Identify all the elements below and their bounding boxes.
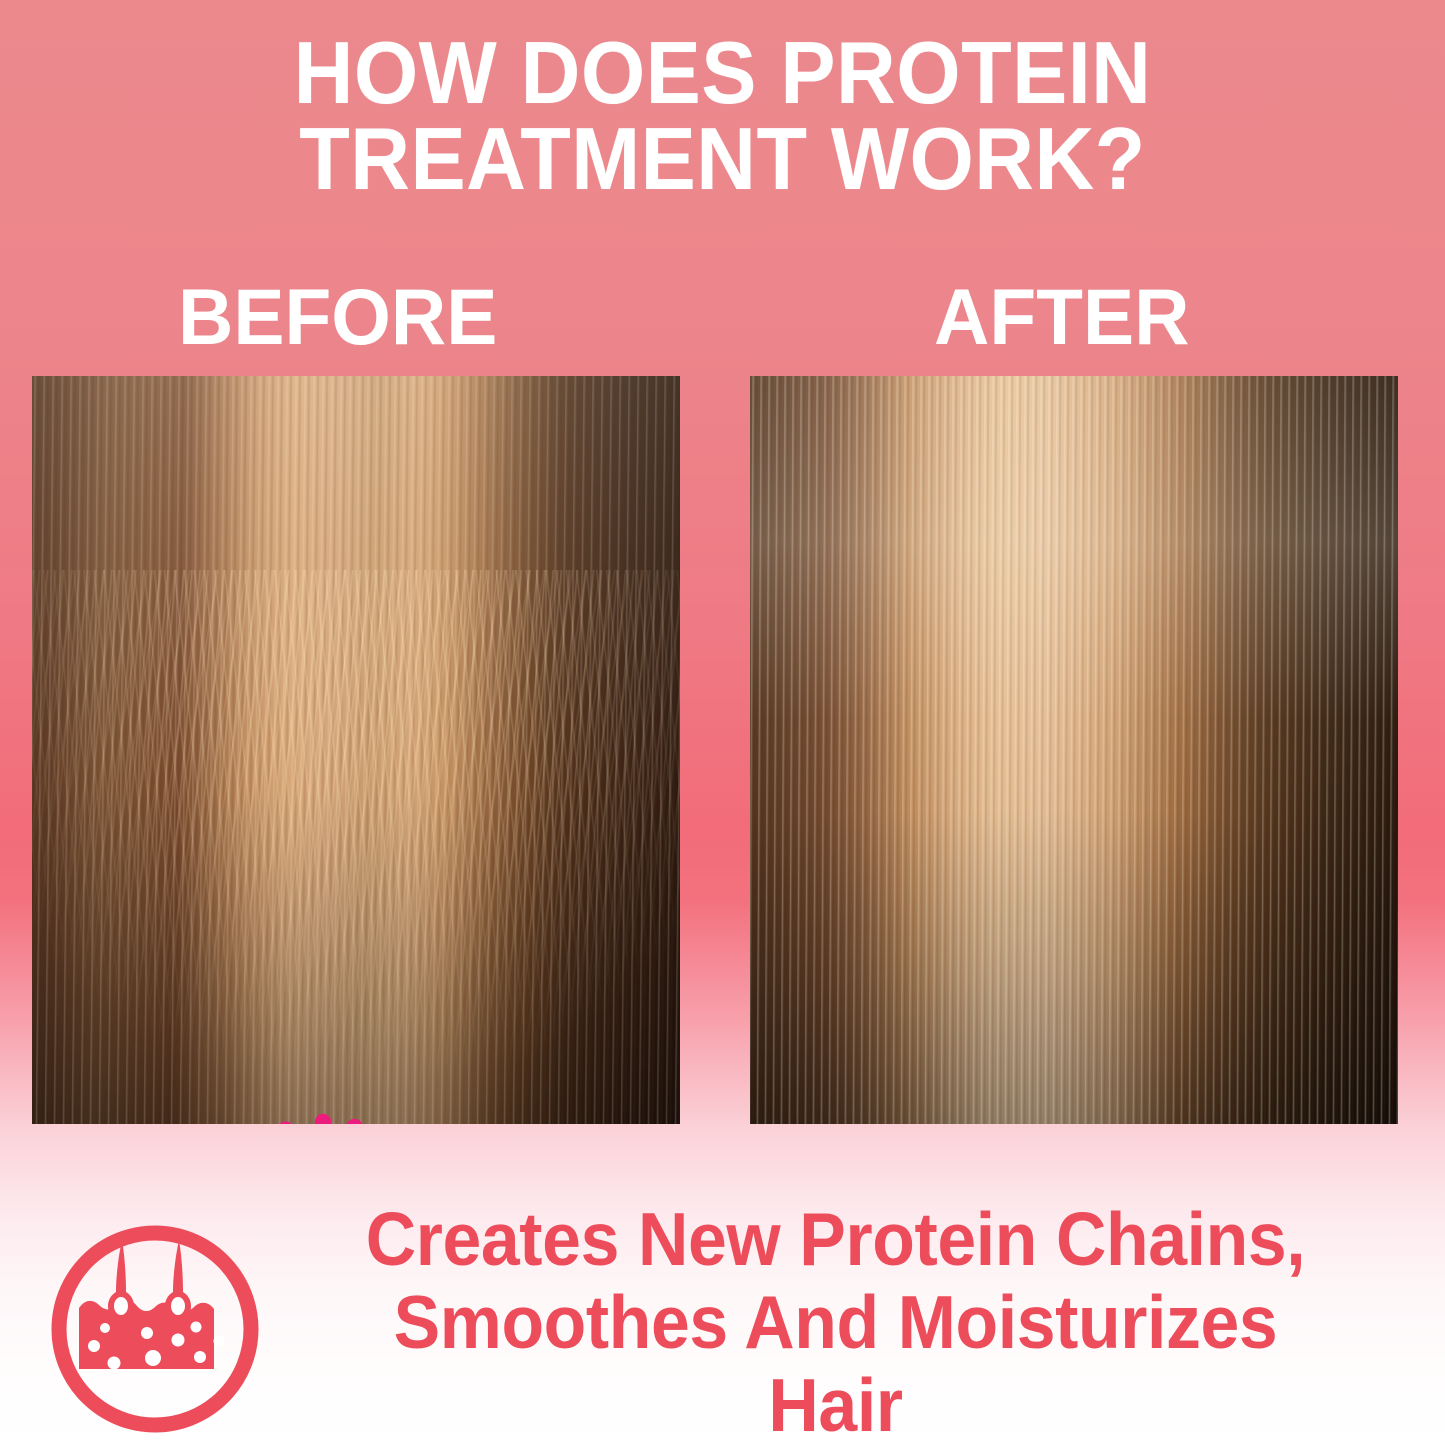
before-panel: BROKEN HAIR bbox=[32, 376, 680, 1124]
page-title: HOW DOES PROTEIN TREATMENT WORK? bbox=[43, 30, 1401, 202]
before-hair-photo bbox=[32, 376, 680, 1124]
after-panel: NORMAL HAIR bbox=[750, 376, 1398, 1124]
before-cuticle-diagram bbox=[210, 1111, 436, 1124]
headline-line-1: HOW DOES PROTEIN bbox=[294, 23, 1152, 122]
after-label: AFTER bbox=[934, 277, 1189, 356]
headline-line-2: TREATMENT WORK? bbox=[43, 116, 1401, 202]
cuticle-dot-ring bbox=[214, 1114, 435, 1124]
after-hair-photo bbox=[750, 376, 1398, 1124]
tagline: Creates New Protein Chains, Smoothes And… bbox=[317, 1198, 1354, 1445]
before-label: BEFORE bbox=[178, 277, 497, 356]
tagline-line-1: Creates New Protein Chains, bbox=[317, 1198, 1354, 1281]
tagline-line-3: Hair bbox=[317, 1364, 1354, 1445]
scalp-follicle-icon bbox=[48, 1222, 262, 1436]
infographic-root: HOW DOES PROTEIN TREATMENT WORK? BEFORE … bbox=[0, 0, 1445, 1445]
tagline-line-2: Smoothes And Moisturizes bbox=[317, 1281, 1354, 1364]
